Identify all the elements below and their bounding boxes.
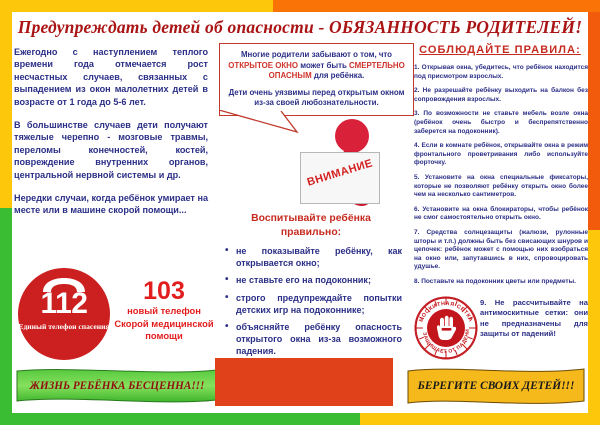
warning-sign-board: ВНИМАНИЕ [300,152,380,204]
emergency-103-number: 103 [114,278,214,304]
callout-box: Многие родители забывают о том, что ОТКР… [219,43,414,116]
mosquito-net-stamp: МОСКИТНАЯ СЕТКА НЕ ЗАЩИЩАЕТ ОТ ПАДЕНИЙ! [414,296,478,360]
frame-strip-top-left [0,0,273,12]
rules-list: 1. Открывая окна, убедитесь, что ребёнок… [414,64,588,292]
rule-item: 3. По возможности не ставьте мебель возл… [414,110,588,136]
rule-9-block: МОСКИТНАЯ СЕТКА НЕ ЗАЩИЩАЕТ ОТ ПАДЕНИЙ! … [414,296,588,360]
callout-highlight-open-window: ОТКРЫТОЕ ОКНО [228,61,298,70]
rules-heading: СОБЛЮДАЙТЕ ПРАВИЛА: [414,44,586,56]
callout-text-c: для ребёнка. [312,71,365,80]
rule-item: 5. Установите на окна специальные фиксат… [414,174,588,200]
emergency-103-label: новый телефон Скорой медицинской помощи [114,305,214,343]
rule-item: 7. Средства солнцезащиты (жалюзи, рулонн… [414,229,588,272]
frame-strip-right-orange [588,12,600,230]
list-item: строго предупреждайте попытки детских иг… [236,292,402,316]
emergency-103-badge: 103 новый телефон Скорой медицинской пом… [114,278,214,343]
emergency-phones: 112 Единый телефон спасения 103 новый те… [14,268,214,363]
callout-line-1: Многие родители забывают о том, что ОТКР… [227,50,406,82]
left-column-text: Ежегодно с наступлением теплого времени … [14,46,208,228]
frame-strip-left-yellow [0,12,12,208]
callout-text-b: может быть [298,61,349,70]
poster-root: Предупреждать детей об опасности - ОБЯЗА… [0,0,600,425]
frame-strip-left-green [0,208,12,413]
rule-item: 2. Не разрешайте ребёнку выходить на бал… [414,87,588,104]
list-item: не ставьте его на подоконник; [236,274,402,286]
callout-line-2: Дети очень уязвимы перед открытым окном … [227,88,406,109]
frame-strip-top-right [273,0,600,12]
emergency-112-number: 112 [18,288,110,320]
emergency-112-label: Единый телефон спасения [18,322,110,332]
left-paragraph-2: В большинстве случаев дети получают тяже… [14,119,208,181]
frame-strip-right-yellow [588,230,600,413]
frame-strip-bottom-yellow [360,413,600,425]
warning-figure-illustration: ВНИМАНИЕ [300,118,410,218]
rule-item: 8. Поставьте на подоконник цветы или пре… [414,278,588,287]
rule-item: 6. Установите на окна блокираторы, чтобы… [414,206,588,223]
rule-item-9: 9. Не рассчитывайте на антимоскитные сет… [480,298,588,340]
list-item: объясняйте ребёнку опасность открытого о… [236,321,402,358]
frame-strip-bottom-green [0,413,360,425]
callout-text-a: Многие родители забывают о том, что [241,50,392,59]
page-title: Предупреждать детей об опасности - ОБЯЗА… [12,14,588,40]
warning-sign-text: ВНИМАНИЕ [303,156,377,189]
emergency-112-badge: 112 Единый телефон спасения [18,268,110,360]
rule-item: 1. Открывая окна, убедитесь, что ребёнок… [414,64,588,81]
rule-item: 4. Если в комнате ребёнок, открывайте ок… [414,142,588,168]
yellow-ribbon-banner: БЕРЕГИТЕ СВОИХ ДЕТЕЙ!!! [404,365,588,407]
left-paragraph-3: Нередки случаи, когда ребёнок умирает на… [14,192,208,217]
yellow-ribbon-text: БЕРЕГИТЕ СВОИХ ДЕТЕЙ!!! [404,365,588,407]
green-ribbon-banner: ЖИЗНЬ РЕБЁНКА БЕСЦЕННА!!! [14,367,220,405]
left-paragraph-1: Ежегодно с наступлением теплого времени … [14,46,208,108]
green-ribbon-text: ЖИЗНЬ РЕБЁНКА БЕСЦЕННА!!! [14,367,220,405]
middle-heading: Воспитывайте ребёнка правильно: [222,212,400,239]
list-item: не показывайте ребёнку, как открывается … [236,245,402,269]
red-accent-block [215,358,393,406]
middle-advice-list: не показывайте ребёнку, как открывается … [222,245,402,363]
